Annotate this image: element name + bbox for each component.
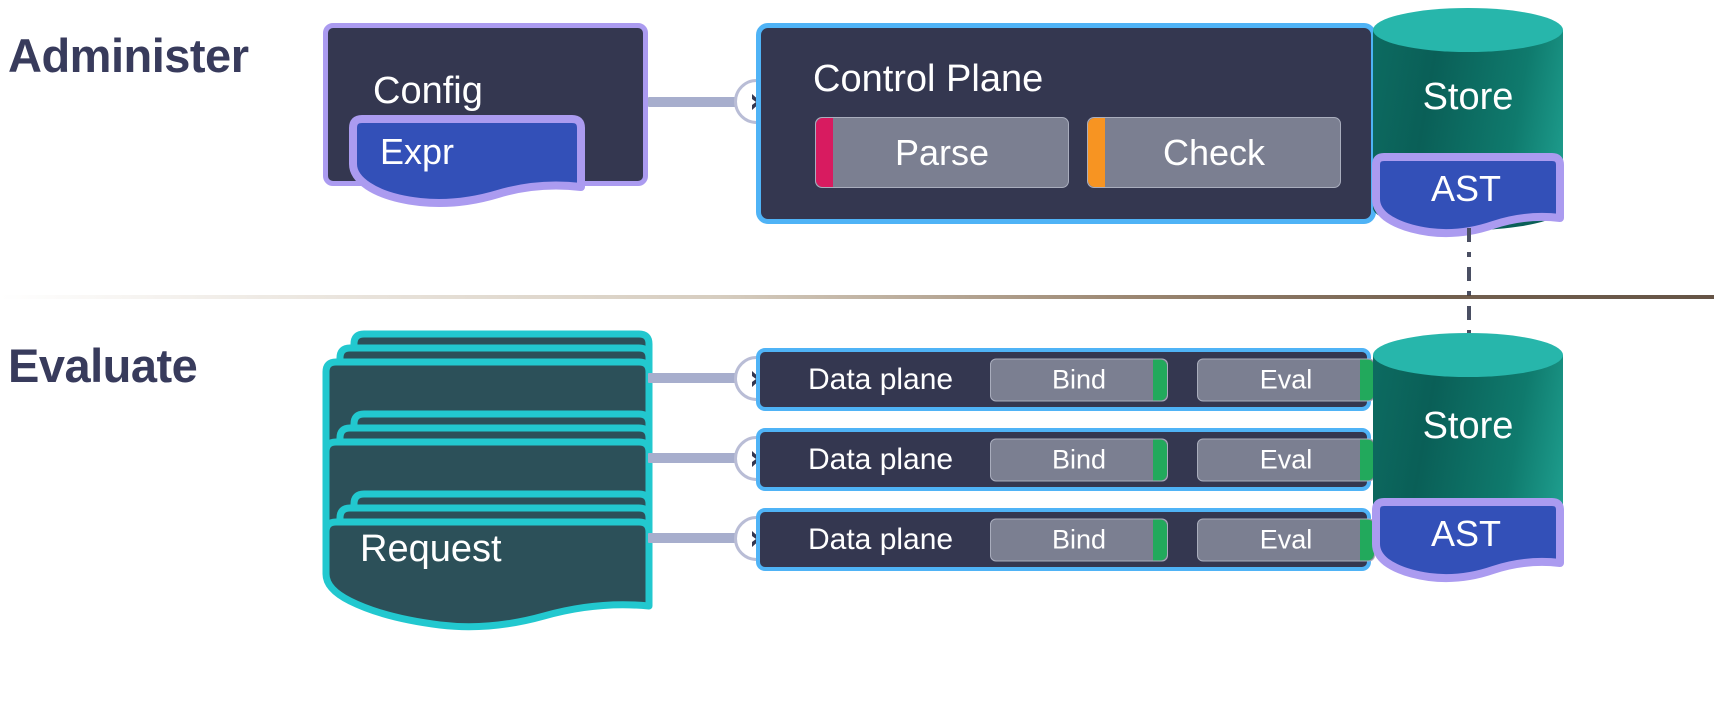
- cylinder-top: [1373, 8, 1563, 52]
- bind-accent-bar: [1153, 439, 1167, 480]
- check-accent-bar: [1088, 118, 1105, 187]
- dash-dot-link-ast: [1467, 228, 1471, 338]
- bind-label: Bind: [1052, 444, 1106, 475]
- stage-chip-bind[interactable]: Bind: [990, 518, 1168, 561]
- stage-chip-eval[interactable]: Eval: [1197, 438, 1375, 481]
- ast-document-evaluate[interactable]: AST: [1371, 497, 1561, 587]
- bind-accent-bar: [1153, 519, 1167, 560]
- ast-document-administer[interactable]: AST: [1371, 152, 1561, 242]
- config-label: Config: [373, 70, 483, 113]
- request-label: Request: [360, 528, 502, 571]
- store-label: Store: [1373, 405, 1563, 448]
- bind-accent-bar: [1153, 359, 1167, 400]
- data-plane-label: Data plane: [808, 443, 953, 477]
- stage-chip-bind[interactable]: Bind: [990, 358, 1168, 401]
- data-plane-label: Data plane: [808, 523, 953, 557]
- stage-chip-eval[interactable]: Eval: [1197, 518, 1375, 561]
- store-label: Store: [1373, 76, 1563, 119]
- diagram-canvas: Administer Config Expr Control Plane Par…: [0, 0, 1714, 705]
- eval-accent-bar: [1360, 359, 1374, 400]
- control-plane-panel[interactable]: Control Plane Parse Check: [756, 23, 1376, 224]
- bind-label: Bind: [1052, 364, 1106, 395]
- eval-label: Eval: [1260, 524, 1313, 555]
- stage-chip-bind[interactable]: Bind: [990, 438, 1168, 481]
- expr-document[interactable]: Expr: [348, 114, 586, 211]
- parse-label: Parse: [895, 132, 989, 174]
- data-plane-label: Data plane: [808, 363, 953, 397]
- eval-label: Eval: [1260, 364, 1313, 395]
- section-title-evaluate: Evaluate: [8, 338, 197, 393]
- stage-chip-check[interactable]: Check: [1087, 117, 1341, 188]
- stage-chip-parse[interactable]: Parse: [815, 117, 1069, 188]
- parse-accent-bar: [816, 118, 833, 187]
- bind-label: Bind: [1052, 524, 1106, 555]
- store-cylinder-evaluate[interactable]: Store: [1373, 333, 1563, 523]
- control-plane-label: Control Plane: [813, 58, 1043, 101]
- section-divider: [0, 295, 1714, 299]
- check-label: Check: [1163, 132, 1265, 174]
- data-plane-row[interactable]: Data plane Bind Eval: [756, 348, 1371, 411]
- stage-chip-eval[interactable]: Eval: [1197, 358, 1375, 401]
- data-plane-row[interactable]: Data plane Bind Eval: [756, 508, 1371, 571]
- section-title-administer: Administer: [8, 28, 249, 83]
- request-stack[interactable]: Request: [318, 330, 653, 630]
- eval-label: Eval: [1260, 444, 1313, 475]
- cylinder-top: [1373, 333, 1563, 377]
- eval-accent-bar: [1360, 439, 1374, 480]
- data-plane-row[interactable]: Data plane Bind Eval: [756, 428, 1371, 491]
